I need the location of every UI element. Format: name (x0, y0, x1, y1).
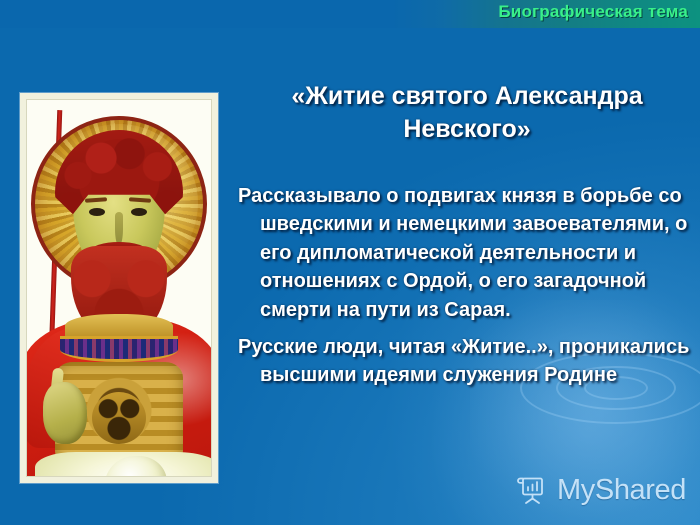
illustration-image (26, 99, 212, 477)
presentation-slide: Биографическая тема (0, 0, 700, 525)
slide-body: Рассказывало о подвигах князя в борьбе с… (238, 182, 700, 390)
nose-shape (115, 212, 123, 246)
header-title: Биографическая тема (498, 2, 688, 22)
presentation-chart-icon (514, 473, 548, 507)
myshared-watermark[interactable]: MyShared (514, 473, 686, 507)
collar-jewel-shape (60, 336, 178, 362)
eye-shape (89, 208, 105, 216)
armor-ornament-shape (92, 392, 146, 444)
body-paragraph: Русские люди, читая «Житие..», проникали… (238, 333, 700, 390)
illustration-frame (20, 93, 218, 483)
body-paragraph: Рассказывало о подвигах князя в борьбе с… (238, 182, 700, 324)
eye-shape (131, 208, 147, 216)
hand-shape (43, 382, 87, 444)
slide-title: «Житие святого Александра Невского» (238, 80, 696, 145)
myshared-brand-label: MyShared (557, 474, 686, 507)
